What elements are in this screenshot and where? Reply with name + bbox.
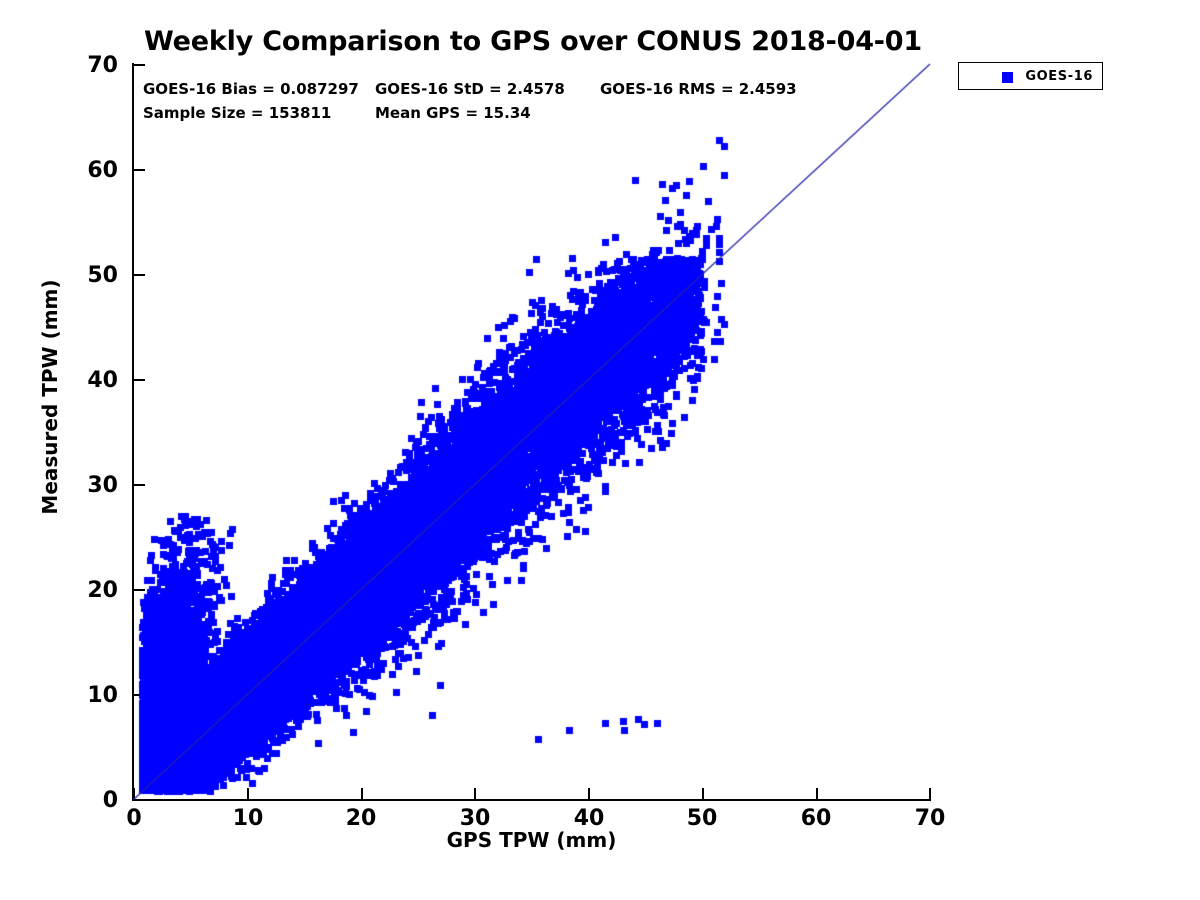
chart-figure: Weekly Comparison to GPS over CONUS 2018… <box>0 0 1200 900</box>
scatter-plot-canvas <box>0 0 1200 900</box>
chart-legend: GOES-16 <box>958 62 1103 90</box>
legend-marker-goes-16 <box>1002 72 1013 83</box>
legend-label-goes-16: GOES-16 <box>1025 69 1093 84</box>
annotation-bias: GOES-16 Bias = 0.087297 <box>143 80 359 98</box>
annotation-mean-gps: Mean GPS = 15.34 <box>375 104 531 122</box>
annotation-std: GOES-16 StD = 2.4578 <box>375 80 565 98</box>
annotation-rms: GOES-16 RMS = 2.4593 <box>600 80 797 98</box>
annotation-sample-size: Sample Size = 153811 <box>143 104 331 122</box>
